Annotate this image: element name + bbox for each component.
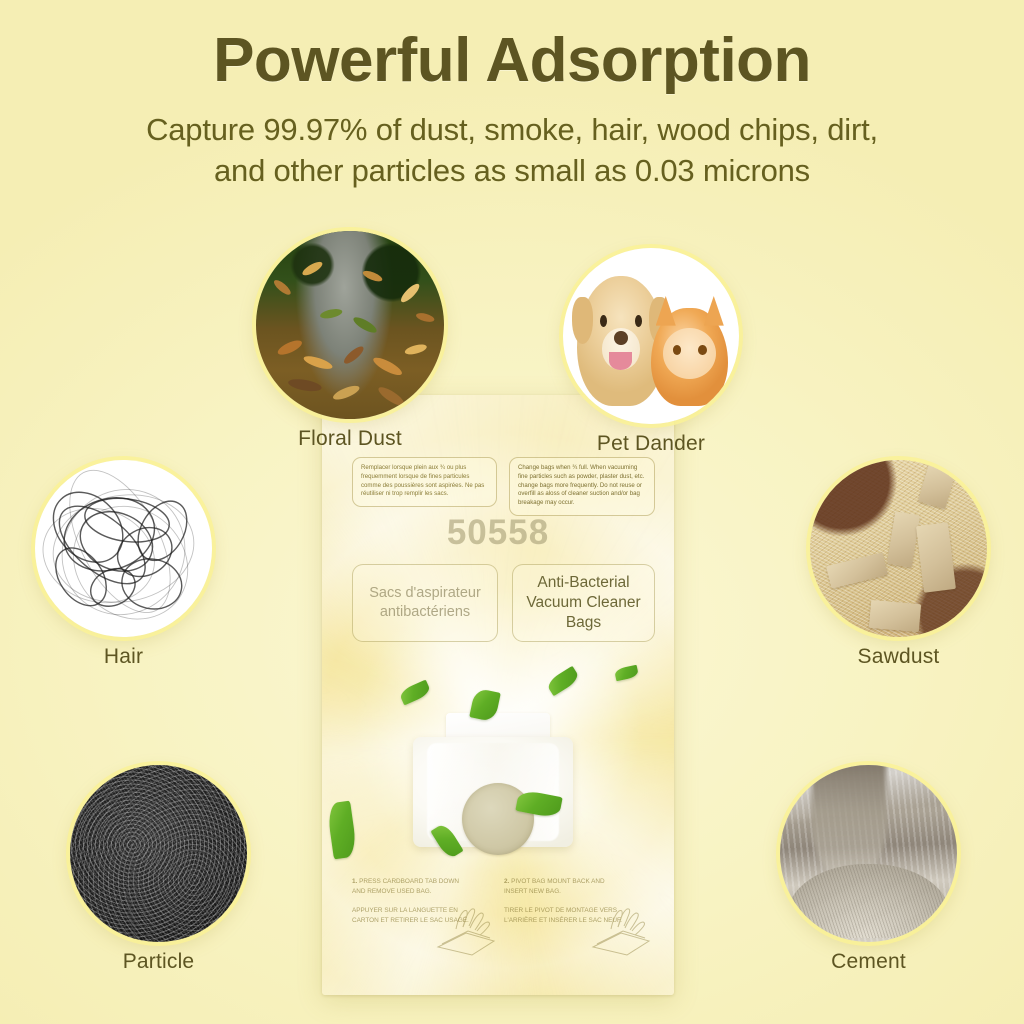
hand-diagram-icon [587,903,657,959]
page-title: Powerful Adsorption [0,28,1024,94]
floral-dust-image [256,231,444,419]
wood-chip [826,552,888,588]
dog-eye-left-icon [600,315,607,327]
cement-image [780,765,957,942]
hair-texture [35,460,212,637]
dog-mouth-icon [609,352,632,370]
page-subtitle: Capture 99.97% of dust, smoke, hair, woo… [0,110,1024,192]
package-instructions: 1. PRESS CARDBOARD TAB DOWN AND REMOVE U… [344,877,654,969]
package-note-english: Change bags when ¾ full. When vacuuming … [509,457,655,516]
cement-pile [787,864,950,938]
particle-item-floral-dust: Floral Dust [256,231,444,419]
cement-label: Cement [780,950,957,974]
promo-banner: Powerful Adsorption Capture 99.97% of du… [0,0,1024,1024]
hair-image [35,460,212,637]
subtitle-line-2: and other particles as small as 0.03 mic… [0,151,1024,192]
header: Powerful Adsorption Capture 99.97% of du… [0,28,1024,192]
step-1-number: 1. [352,878,357,885]
step-2-text-en: PIVOT BAG MOUNT BACK AND INSERT NEW BAG. [504,878,605,895]
particle-item-pet-dander: Pet Dander [563,248,739,424]
dog-eye-right-icon [635,315,642,327]
package-model-number: 50558 [322,513,674,553]
pet-dander-image [563,248,739,424]
wood-chip [869,599,921,632]
step-1-text-en: PRESS CARDBOARD TAB DOWN AND REMOVE USED… [352,878,459,895]
hand-diagram-icon [432,903,502,959]
cat-eye-right-icon [698,345,707,355]
leaf-litter-overlay [256,231,444,419]
hair-label: Hair [35,645,212,669]
particle-texture [70,765,247,942]
cat-face-icon [663,328,716,379]
pet-dander-label: Pet Dander [563,432,739,456]
wood-chip [887,511,920,567]
step-2-number: 2. [504,878,509,885]
product-name-french: Sacs d'aspirateur antibactériens [352,564,498,642]
cement-pour-stream [812,765,886,875]
dog-illustration [577,276,665,406]
floral-dust-label: Floral Dust [256,427,444,451]
particle-item-cement: Cement [780,765,957,942]
product-name-english: Anti-Bacterial Vacuum Cleaner Bags [512,564,655,642]
package-note-french: Remplacer lorsque plein aux ¾ ou plus fr… [352,457,497,507]
wood-chip [916,522,956,593]
subtitle-line-1: Capture 99.97% of dust, smoke, hair, woo… [0,110,1024,151]
dog-ear-left-icon [572,297,593,344]
cat-illustration [651,308,728,407]
wood-chip [918,464,956,509]
product-package: Remplacer lorsque plein aux ¾ ou plus fr… [322,395,674,995]
pet-dander-texture [563,248,739,424]
particle-label: Particle [70,950,247,974]
particle-image [70,765,247,942]
particle-item-sawdust: Sawdust [810,460,987,637]
particle-item-hair: Hair [35,460,212,637]
sawdust-image [810,460,987,637]
cement-texture [780,765,957,942]
cat-ear-right-icon [704,296,724,326]
particle-item-particle: Particle [70,765,247,942]
sawdust-label: Sawdust [810,645,987,669]
hair-strands-overlay [35,460,212,637]
sawdust-texture [810,460,987,637]
